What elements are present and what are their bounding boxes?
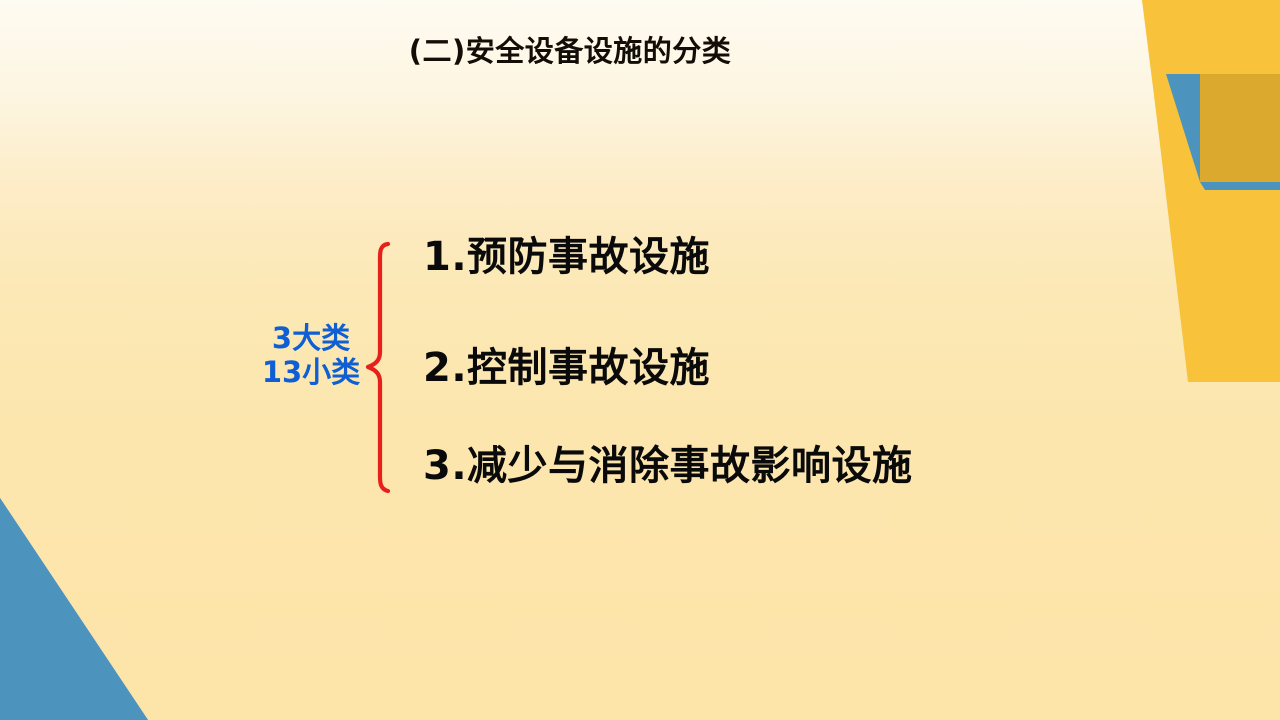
list-item-1: 1.预防事故设施 [423,237,710,277]
slide-canvas: (二)安全设备设施的分类 3大类 13小类 1.预防事故设施 2.控制事故设施 … [0,0,1280,720]
left-curly-brace-icon [358,240,402,495]
slide-body: 3大类 13小类 1.预防事故设施 2.控制事故设施 3.减少与消除事故影响设施 [0,0,1280,720]
list-item-3: 3.减少与消除事故影响设施 [423,446,913,486]
list-item-2: 2.控制事故设施 [423,348,710,388]
